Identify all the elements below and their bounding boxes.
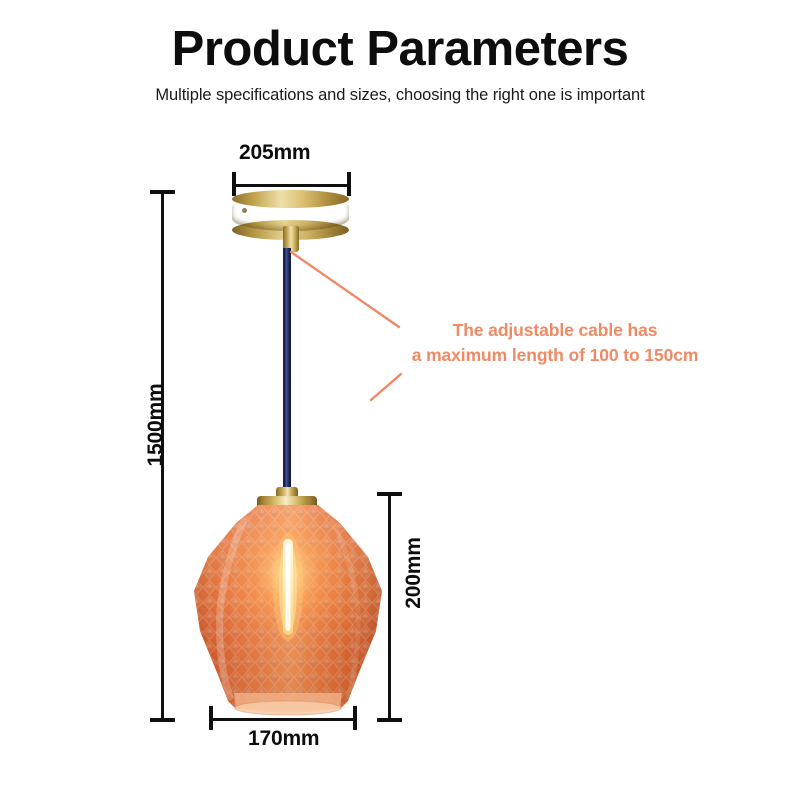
hanging-cable xyxy=(283,248,291,492)
dimension-tick-shade-height-bottom xyxy=(377,718,402,722)
leader-line-lower xyxy=(371,374,401,400)
glass-shade xyxy=(190,505,386,717)
annotation-line-2: a maximum length of 100 to 150cm xyxy=(390,343,720,368)
dimension-tick-drop-bottom xyxy=(150,718,175,722)
annotation-line-1: The adjustable cable has xyxy=(390,318,720,343)
dimension-label-shade-height: 200mm xyxy=(402,523,426,623)
dimension-line-shade-height xyxy=(388,492,391,721)
shade-base-rim xyxy=(234,691,342,715)
dimension-label-shade-width: 170mm xyxy=(248,727,319,751)
product-parameters-diagram: Product Parameters Multiple specificatio… xyxy=(0,0,800,800)
page-title: Product Parameters xyxy=(0,0,800,75)
ceiling-canopy xyxy=(232,190,349,252)
header: Product Parameters Multiple specificatio… xyxy=(0,0,800,105)
dimension-line-canopy-width xyxy=(232,184,349,187)
canopy-screw xyxy=(242,208,247,213)
dimension-label-canopy-width: 205mm xyxy=(239,141,310,165)
dimension-line-total-drop xyxy=(161,190,164,721)
dimension-label-total-drop: 1500mm xyxy=(144,375,168,475)
filament-bulb xyxy=(273,533,303,641)
cable-length-annotation: The adjustable cable has a maximum lengt… xyxy=(390,318,720,368)
annotation-leader-lines xyxy=(0,0,800,800)
page-subtitle: Multiple specifications and sizes, choos… xyxy=(0,75,800,105)
dimension-tick-shade-height-top xyxy=(377,492,402,496)
leader-line-upper xyxy=(291,252,399,327)
dimension-tick-drop-top xyxy=(150,190,175,194)
dimension-line-shade-width xyxy=(209,718,355,721)
glass-shade-graphic xyxy=(190,505,386,717)
canopy-top-face xyxy=(232,190,349,208)
